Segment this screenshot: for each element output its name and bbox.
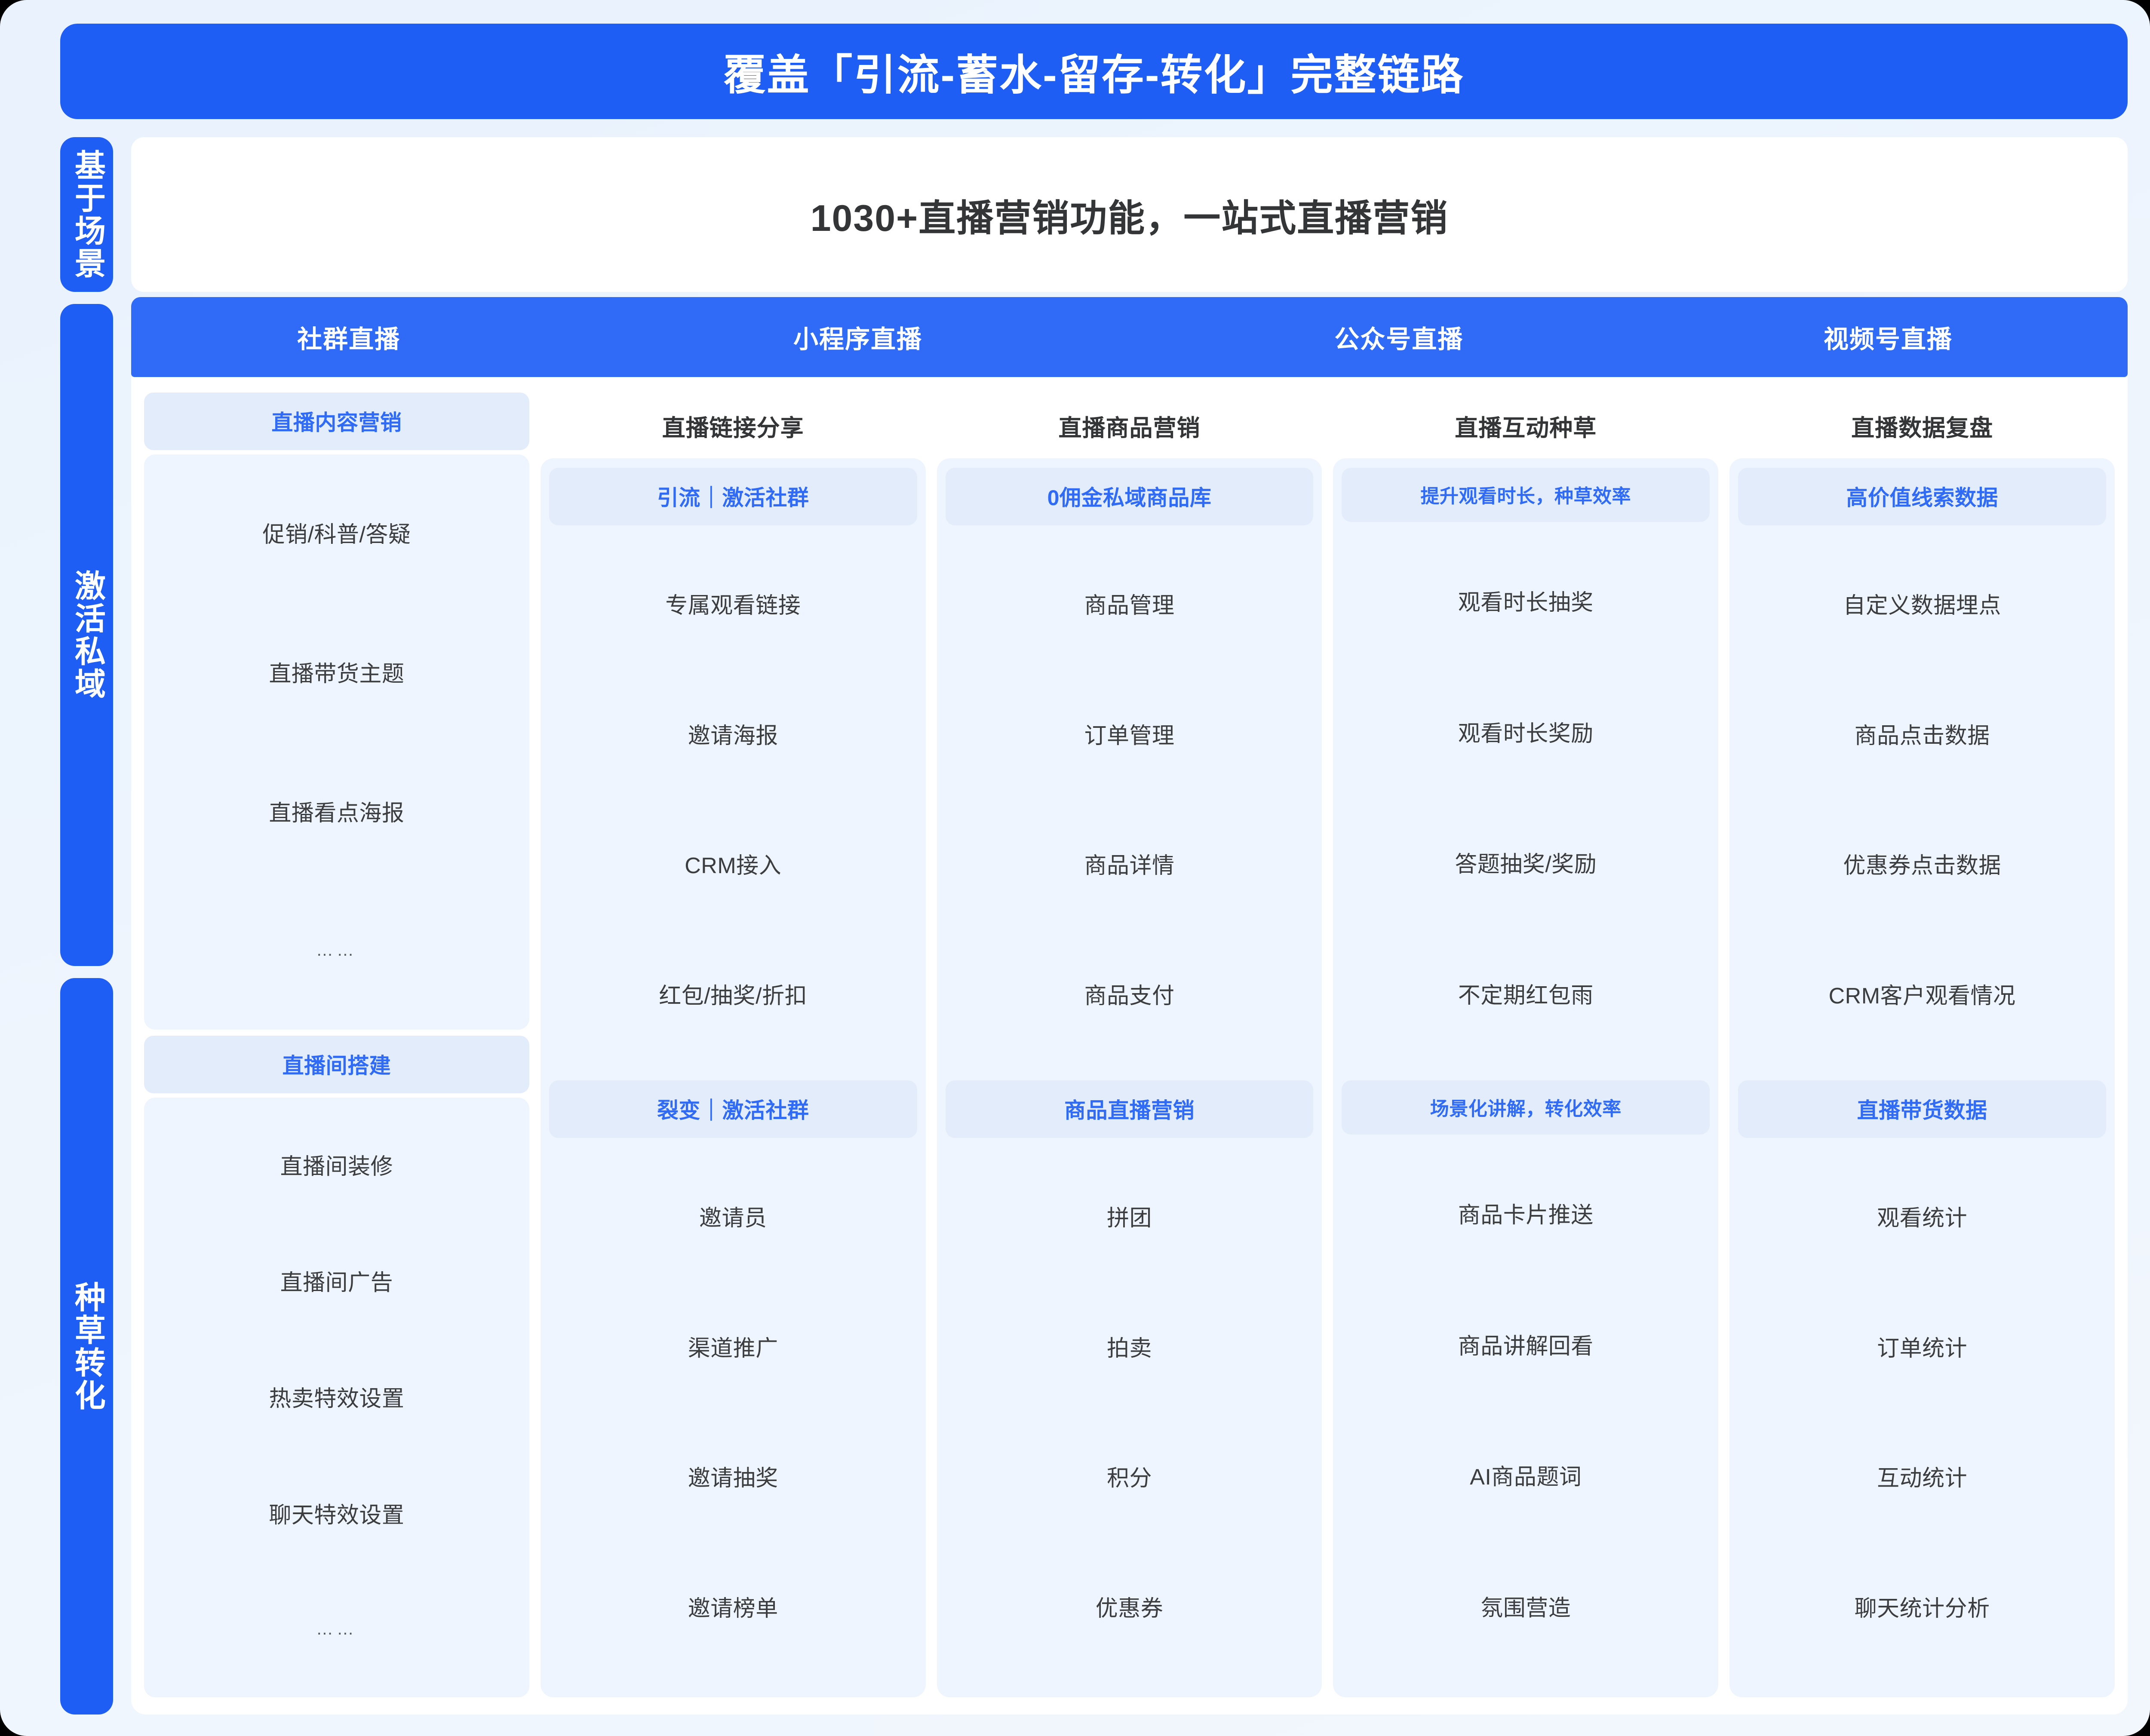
sidebar-item-activate-private[interactable]: 激活私域 xyxy=(60,304,113,966)
list-item[interactable]: 直播看点海报 xyxy=(269,801,404,826)
column-card: 直播链接分享 引流｜激活社群 专属观看链接 邀请海报 CRM接入 红包/抽奖/折… xyxy=(541,393,926,1697)
list-item[interactable]: 自定义数据埋点 xyxy=(1843,594,2001,618)
list-item[interactable]: 直播间装修 xyxy=(280,1155,393,1179)
list-item[interactable]: 邀请员 xyxy=(699,1206,767,1231)
group-header[interactable]: 直播内容营销 xyxy=(144,393,529,450)
group-header[interactable]: 高价值线索数据 xyxy=(1738,468,2106,525)
list-item[interactable]: 订单管理 xyxy=(1084,724,1174,748)
column-title: 直播链接分享 xyxy=(541,393,926,458)
headline-card: 1030+直播营销功能，一站式直播营销 xyxy=(131,137,2128,292)
sidebar-item-scene[interactable]: 基于场景 xyxy=(60,137,113,292)
feature-list: 自定义数据埋点 商品点击数据 优惠券点击数据 CRM客户观看情况 xyxy=(1738,530,2106,1074)
column-card: 直播内容营销 促销/科普/答疑 直播带货主题 直播看点海报 …… 直播间搭建 直… xyxy=(144,393,529,1697)
column-card: 直播互动种草 提升观看时长，种草效率 观看时长抽奖 观看时长奖励 答题抽奖/奖励… xyxy=(1333,393,1718,1697)
tab-community-live[interactable]: 社群直播 xyxy=(131,319,566,355)
content-area: 1030+直播营销功能，一站式直播营销 社群直播 小程序直播 公众号直播 视频号… xyxy=(131,137,2128,1715)
feature-column-interactive-seeding: 直播互动种草 提升观看时长，种草效率 观看时长抽奖 观看时长奖励 答题抽奖/奖励… xyxy=(1333,393,1718,1697)
group-spacer xyxy=(144,1030,529,1036)
feature-panel: 直播内容营销 促销/科普/答疑 直播带货主题 直播看点海报 …… 直播间搭建 直… xyxy=(131,377,2128,1715)
column-title: 直播互动种草 xyxy=(1333,393,1718,458)
sidebar-item-label: 基于场景 xyxy=(70,149,104,280)
column-inner: 引流｜激活社群 专属观看链接 邀请海报 CRM接入 红包/抽奖/折扣 裂变｜激活… xyxy=(541,458,926,1697)
list-item[interactable]: 聊天统计分析 xyxy=(1855,1597,1990,1621)
column-card: 直播商品营销 0佣金私域商品库 商品管理 订单管理 商品详情 商品支付 商品直播… xyxy=(937,393,1322,1697)
tab-official-account-live[interactable]: 公众号直播 xyxy=(1149,319,1649,355)
list-item[interactable]: 积分 xyxy=(1107,1466,1152,1491)
feature-list: 观看时长抽奖 观看时长奖励 答题抽奖/奖励 不定期红包雨 xyxy=(1342,526,1710,1074)
feature-list: 专属观看链接 邀请海报 CRM接入 红包/抽奖/折扣 xyxy=(549,530,917,1074)
feature-column-data-review: 直播数据复盘 高价值线索数据 自定义数据埋点 商品点击数据 优惠券点击数据 CR… xyxy=(1729,393,2115,1697)
list-item[interactable]: 观看时长奖励 xyxy=(1458,722,1594,746)
list-item[interactable]: 互动统计 xyxy=(1877,1466,1967,1491)
group-spacer xyxy=(1738,1074,2106,1080)
list-item[interactable]: 商品管理 xyxy=(1084,594,1174,618)
list-item[interactable]: 不定期红包雨 xyxy=(1458,984,1594,1008)
list-item[interactable]: 答题抽奖/奖励 xyxy=(1455,853,1597,877)
list-item[interactable]: 渠道推广 xyxy=(688,1337,778,1361)
sidebar-item-label: 种草转化 xyxy=(70,1281,104,1412)
list-item[interactable]: CRM接入 xyxy=(685,854,781,878)
feature-list: 直播间装修 直播间广告 热卖特效设置 聊天特效设置 …… xyxy=(144,1098,529,1697)
group-header[interactable]: 引流｜激活社群 xyxy=(549,468,917,525)
feature-column-product-marketing: 直播商品营销 0佣金私域商品库 商品管理 订单管理 商品详情 商品支付 商品直播… xyxy=(937,393,1322,1697)
list-item[interactable]: 观看统计 xyxy=(1877,1206,1967,1231)
tab-bar: 社群直播 小程序直播 公众号直播 视频号直播 xyxy=(131,297,2128,377)
headline-text: 1030+直播营销功能，一站式直播营销 xyxy=(811,188,1449,242)
group-spacer xyxy=(946,1074,1314,1080)
list-item[interactable]: 商品详情 xyxy=(1084,854,1174,878)
feature-list: 商品管理 订单管理 商品详情 商品支付 xyxy=(946,530,1314,1074)
list-item-ellipsis: …… xyxy=(316,941,357,960)
list-item[interactable]: 商品点击数据 xyxy=(1855,724,1990,748)
group-header[interactable]: 0佣金私域商品库 xyxy=(946,468,1314,525)
list-item[interactable]: AI商品题词 xyxy=(1470,1465,1582,1490)
sidebar-item-label: 激活私域 xyxy=(70,570,104,700)
group-header[interactable]: 直播间搭建 xyxy=(144,1036,529,1093)
tab-miniprogram-live[interactable]: 小程序直播 xyxy=(566,319,1149,355)
feature-list: 商品卡片推送 商品讲解回看 AI商品题词 氛围营造 xyxy=(1342,1139,1710,1687)
list-item[interactable]: 商品讲解回看 xyxy=(1458,1334,1594,1359)
list-item[interactable]: 优惠券 xyxy=(1096,1597,1164,1621)
list-item[interactable]: 拍卖 xyxy=(1107,1337,1152,1361)
tab-channels-live[interactable]: 视频号直播 xyxy=(1649,319,2128,355)
feature-list: 拼团 拍卖 积分 优惠券 xyxy=(946,1142,1314,1687)
column-inner: 高价值线索数据 自定义数据埋点 商品点击数据 优惠券点击数据 CRM客户观看情况… xyxy=(1729,458,2115,1697)
group-header[interactable]: 场景化讲解，转化效率 xyxy=(1342,1080,1710,1135)
group-header[interactable]: 裂变｜激活社群 xyxy=(549,1080,917,1138)
group-header[interactable]: 提升观看时长，种草效率 xyxy=(1342,468,1710,522)
list-item[interactable]: 商品卡片推送 xyxy=(1458,1203,1594,1228)
column-title: 直播商品营销 xyxy=(937,393,1322,458)
list-item[interactable]: CRM客户观看情况 xyxy=(1829,984,2016,1009)
list-item[interactable]: 热卖特效设置 xyxy=(269,1387,404,1411)
list-item[interactable]: 邀请抽奖 xyxy=(688,1466,778,1491)
list-item[interactable]: 直播带货主题 xyxy=(269,662,404,687)
sidebar: 基于场景 激活私域 种草转化 xyxy=(60,137,113,1715)
group-header[interactable]: 商品直播营销 xyxy=(946,1080,1314,1138)
column-title: 直播数据复盘 xyxy=(1729,393,2115,458)
list-item[interactable]: 邀请榜单 xyxy=(688,1597,778,1621)
column-card: 直播数据复盘 高价值线索数据 自定义数据埋点 商品点击数据 优惠券点击数据 CR… xyxy=(1729,393,2115,1697)
page-root: 覆盖「引流-蓄水-留存-转化」完整链路 基于场景 激活私域 种草转化 1030+… xyxy=(0,0,2150,1736)
feature-list: 邀请员 渠道推广 邀请抽奖 邀请榜单 xyxy=(549,1142,917,1687)
list-item[interactable]: 氛围营造 xyxy=(1480,1596,1571,1621)
feature-list: 观看统计 订单统计 互动统计 聊天统计分析 xyxy=(1738,1142,2106,1687)
list-item[interactable]: 优惠券点击数据 xyxy=(1843,854,2001,878)
list-item[interactable]: 直播间广告 xyxy=(280,1271,393,1295)
sidebar-item-seed-convert[interactable]: 种草转化 xyxy=(60,978,113,1715)
list-item[interactable]: 订单统计 xyxy=(1877,1337,1967,1361)
list-item[interactable]: 邀请海报 xyxy=(688,724,778,748)
list-item[interactable]: 聊天特效设置 xyxy=(269,1503,404,1528)
list-item[interactable]: 观看时长抽奖 xyxy=(1458,591,1594,615)
feature-list: 促销/科普/答疑 直播带货主题 直播看点海报 …… xyxy=(144,454,529,1030)
banner: 覆盖「引流-蓄水-留存-转化」完整链路 xyxy=(60,24,2128,119)
group-spacer xyxy=(549,1074,917,1080)
column-inner: 0佣金私域商品库 商品管理 订单管理 商品详情 商品支付 商品直播营销 拼团 xyxy=(937,458,1322,1697)
banner-title: 覆盖「引流-蓄水-留存-转化」完整链路 xyxy=(724,41,1465,102)
feature-column-content-marketing: 直播内容营销 促销/科普/答疑 直播带货主题 直播看点海报 …… 直播间搭建 直… xyxy=(144,393,529,1697)
list-item[interactable]: 专属观看链接 xyxy=(665,594,801,618)
list-item[interactable]: 促销/科普/答疑 xyxy=(262,523,411,547)
group-spacer xyxy=(1342,1074,1710,1080)
column-inner: 提升观看时长，种草效率 观看时长抽奖 观看时长奖励 答题抽奖/奖励 不定期红包雨… xyxy=(1333,458,1718,1697)
main-area: 基于场景 激活私域 种草转化 1030+直播营销功能，一站式直播营销 社群直播 … xyxy=(60,137,2128,1715)
list-item-ellipsis: …… xyxy=(316,1619,357,1638)
feature-column-link-sharing: 直播链接分享 引流｜激活社群 专属观看链接 邀请海报 CRM接入 红包/抽奖/折… xyxy=(541,393,926,1697)
group-header[interactable]: 直播带货数据 xyxy=(1738,1080,2106,1138)
list-item[interactable]: 红包/抽奖/折扣 xyxy=(659,984,807,1009)
list-item[interactable]: 商品支付 xyxy=(1084,984,1174,1009)
list-item[interactable]: 拼团 xyxy=(1107,1206,1152,1231)
